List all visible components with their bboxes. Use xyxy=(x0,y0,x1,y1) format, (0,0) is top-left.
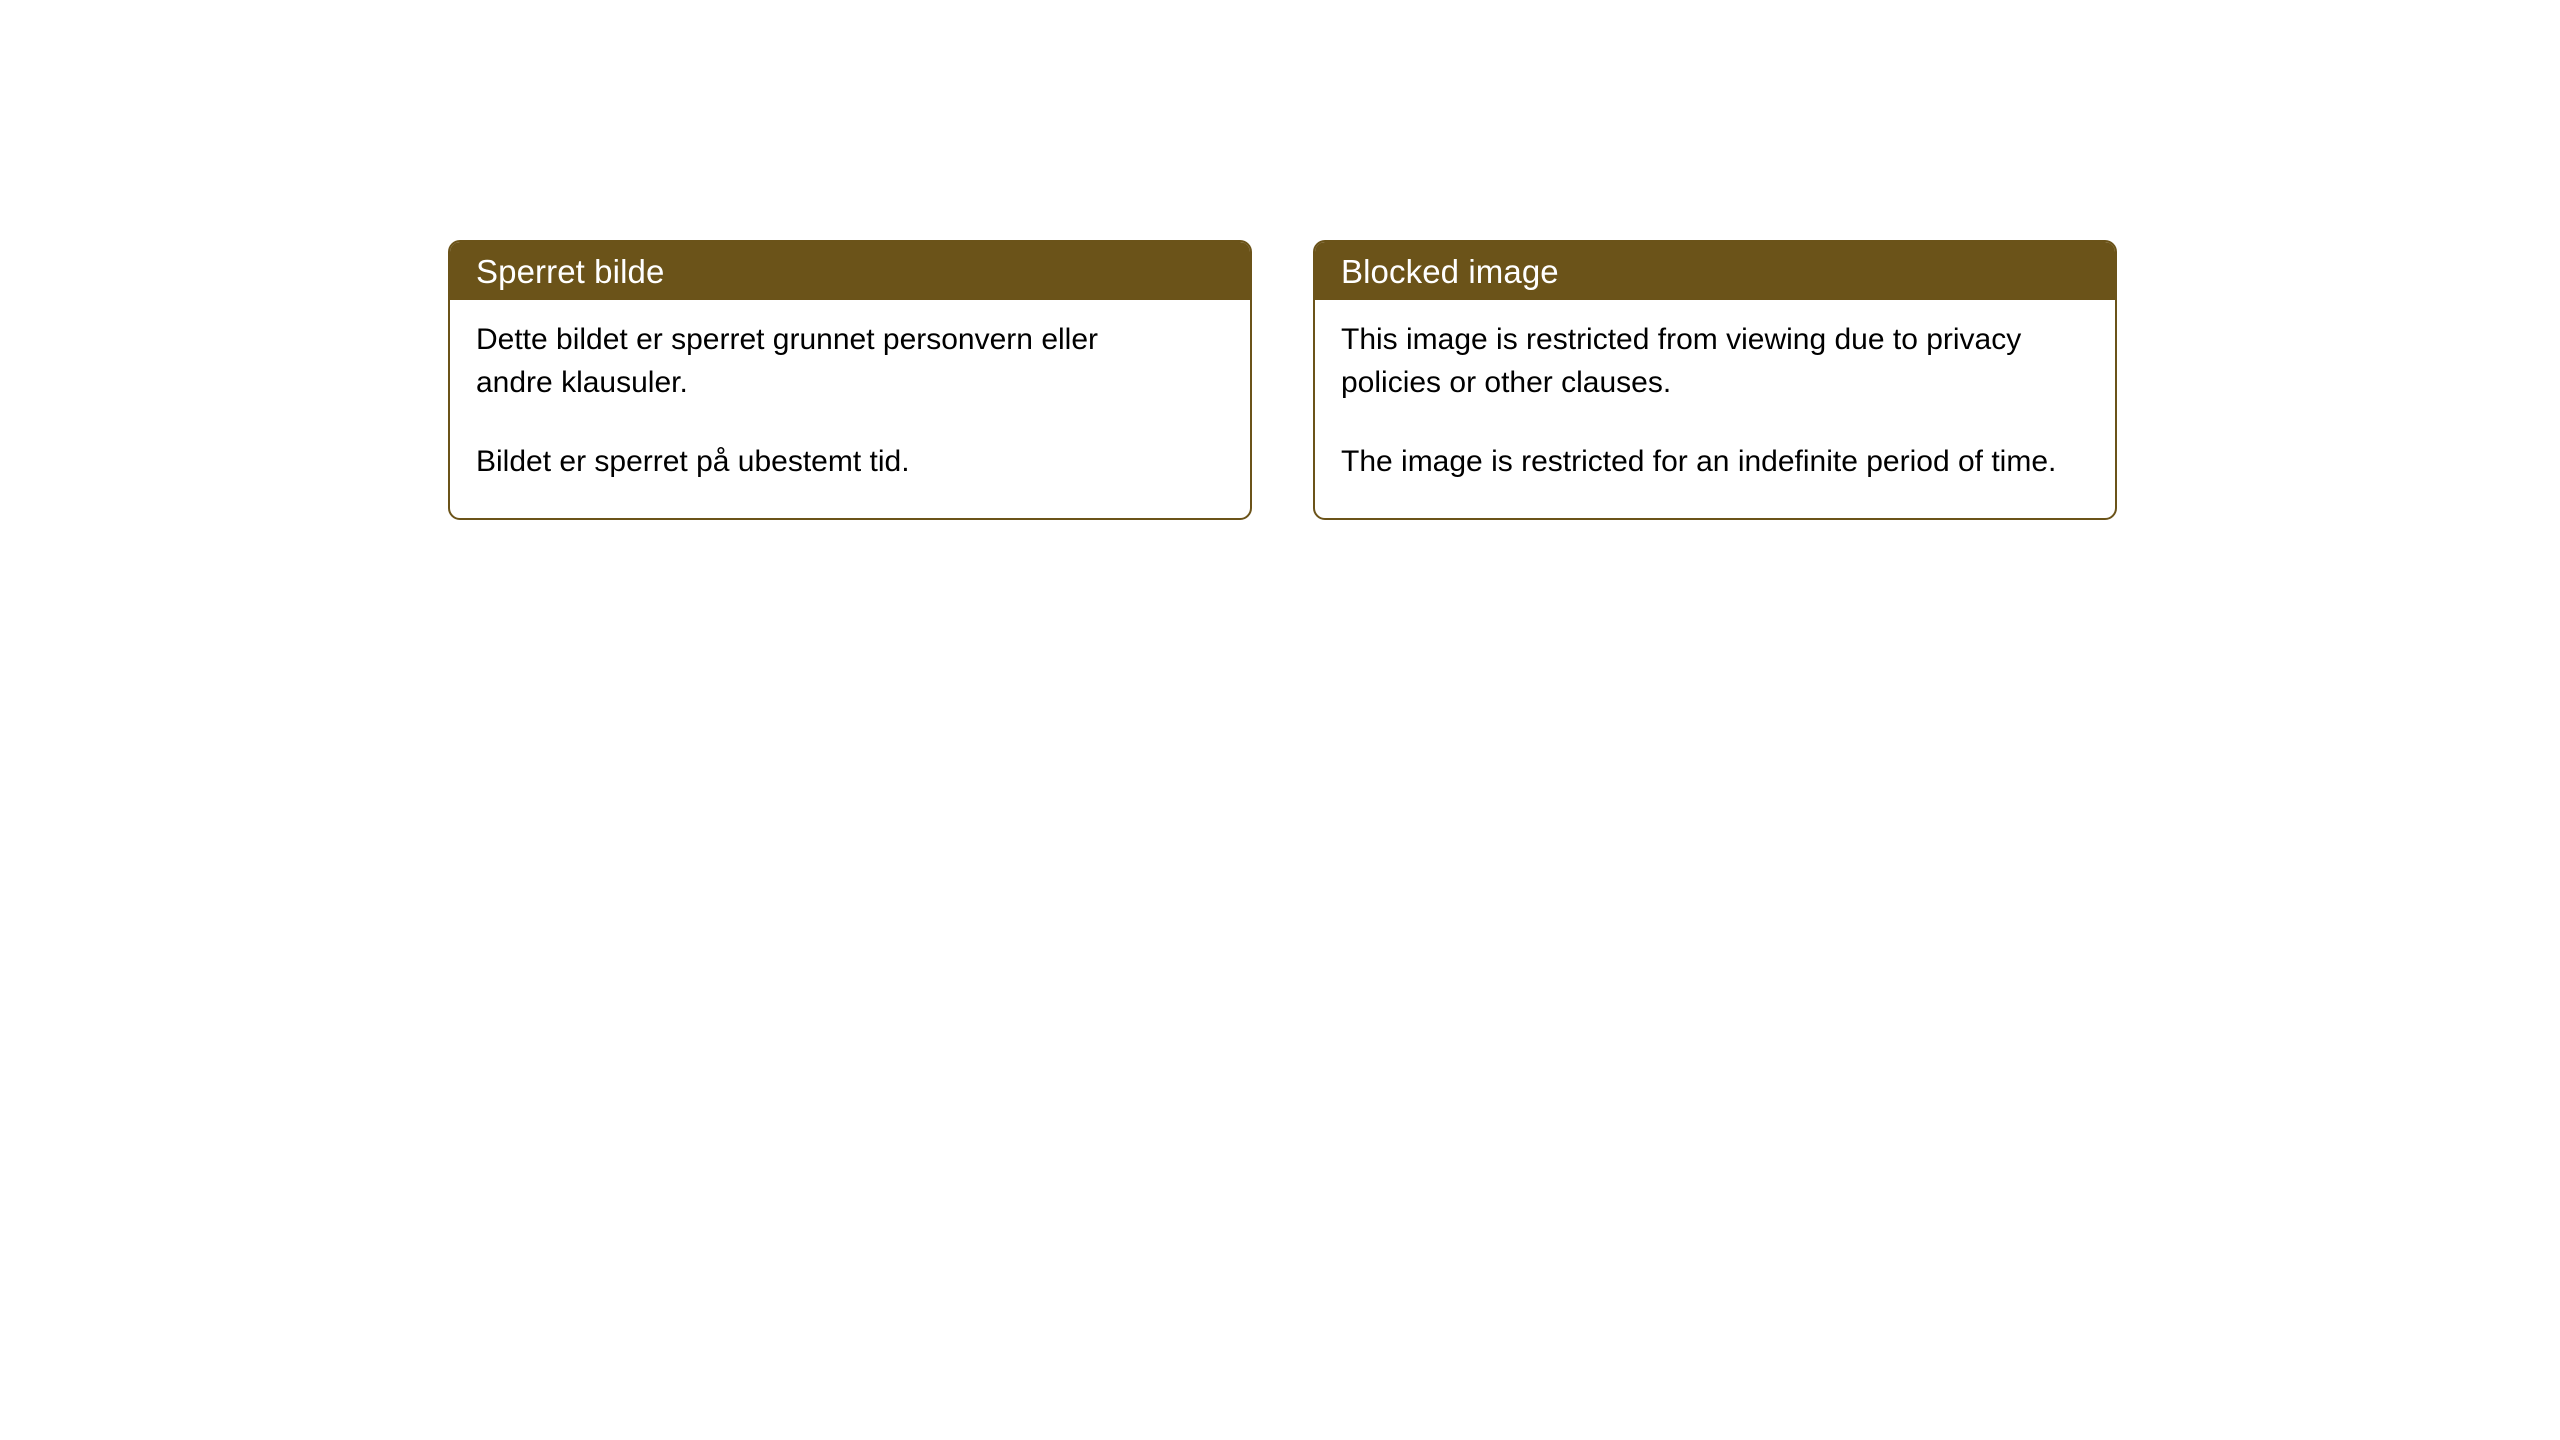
card-paragraph-english-2: The image is restricted for an indefinit… xyxy=(1341,440,2061,483)
card-paragraph-english-1: This image is restricted from viewing du… xyxy=(1341,318,2061,404)
card-paragraph-norwegian-2: Bildet er sperret på ubestemt tid. xyxy=(476,440,1176,483)
card-body-norwegian: Dette bildet er sperret grunnet personve… xyxy=(450,300,1250,518)
card-header-norwegian: Sperret bilde xyxy=(450,242,1250,300)
blocked-image-card-norwegian: Sperret bilde Dette bildet er sperret gr… xyxy=(448,240,1252,520)
card-paragraph-norwegian-1: Dette bildet er sperret grunnet personve… xyxy=(476,318,1176,404)
card-header-english: Blocked image xyxy=(1315,242,2115,300)
blocked-image-notice-group: Sperret bilde Dette bildet er sperret gr… xyxy=(448,240,2117,520)
card-title-norwegian: Sperret bilde xyxy=(476,255,664,288)
blocked-image-card-english: Blocked image This image is restricted f… xyxy=(1313,240,2117,520)
card-body-english: This image is restricted from viewing du… xyxy=(1315,300,2115,518)
card-title-english: Blocked image xyxy=(1341,255,1559,288)
